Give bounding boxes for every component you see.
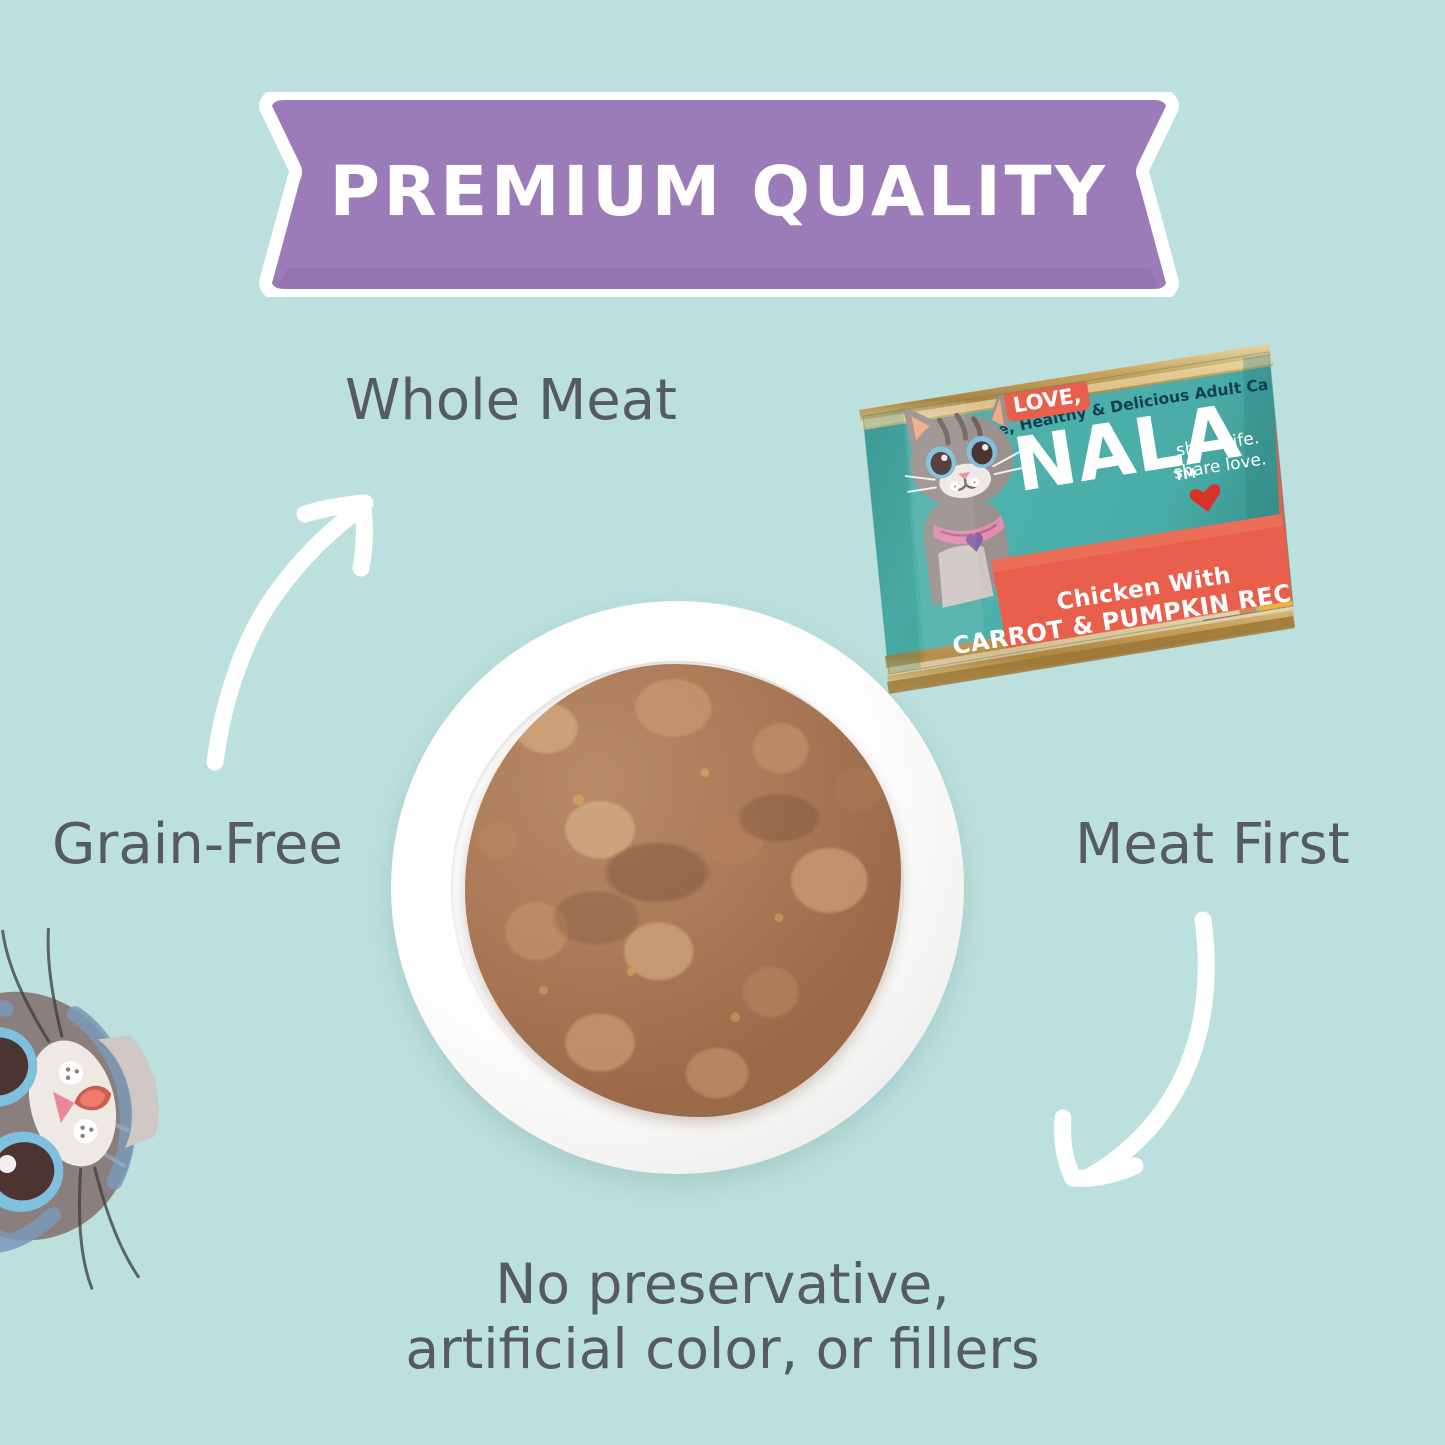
premium-quality-banner: PREMIUM QUALITY <box>258 92 1180 297</box>
feature-label-grain-free: Grain-Free <box>52 812 343 877</box>
corner-cat-mascot <box>0 928 304 1318</box>
can-artwork: Grain Free, Healthy & Delicious Adult Ca… <box>845 338 1305 710</box>
product-feature-graphic: PREMIUM QUALITY Whole Meat Grain-Free Me… <box>0 0 1445 1445</box>
feature-label-whole-meat: Whole Meat <box>345 368 677 433</box>
feature-label-meat-first: Meat First <box>1075 812 1350 877</box>
product-can: Grain Free, Healthy & Delicious Adult Ca… <box>845 338 1305 710</box>
corner-cat-artwork <box>0 928 304 1318</box>
arrow-down-left-icon <box>1015 900 1250 1205</box>
pate-food <box>465 664 900 1117</box>
no-preservative-line-2: artificial color, or fillers <box>0 1317 1445 1382</box>
arrow-up-right-icon <box>185 470 400 775</box>
banner-title: PREMIUM QUALITY <box>258 92 1180 297</box>
